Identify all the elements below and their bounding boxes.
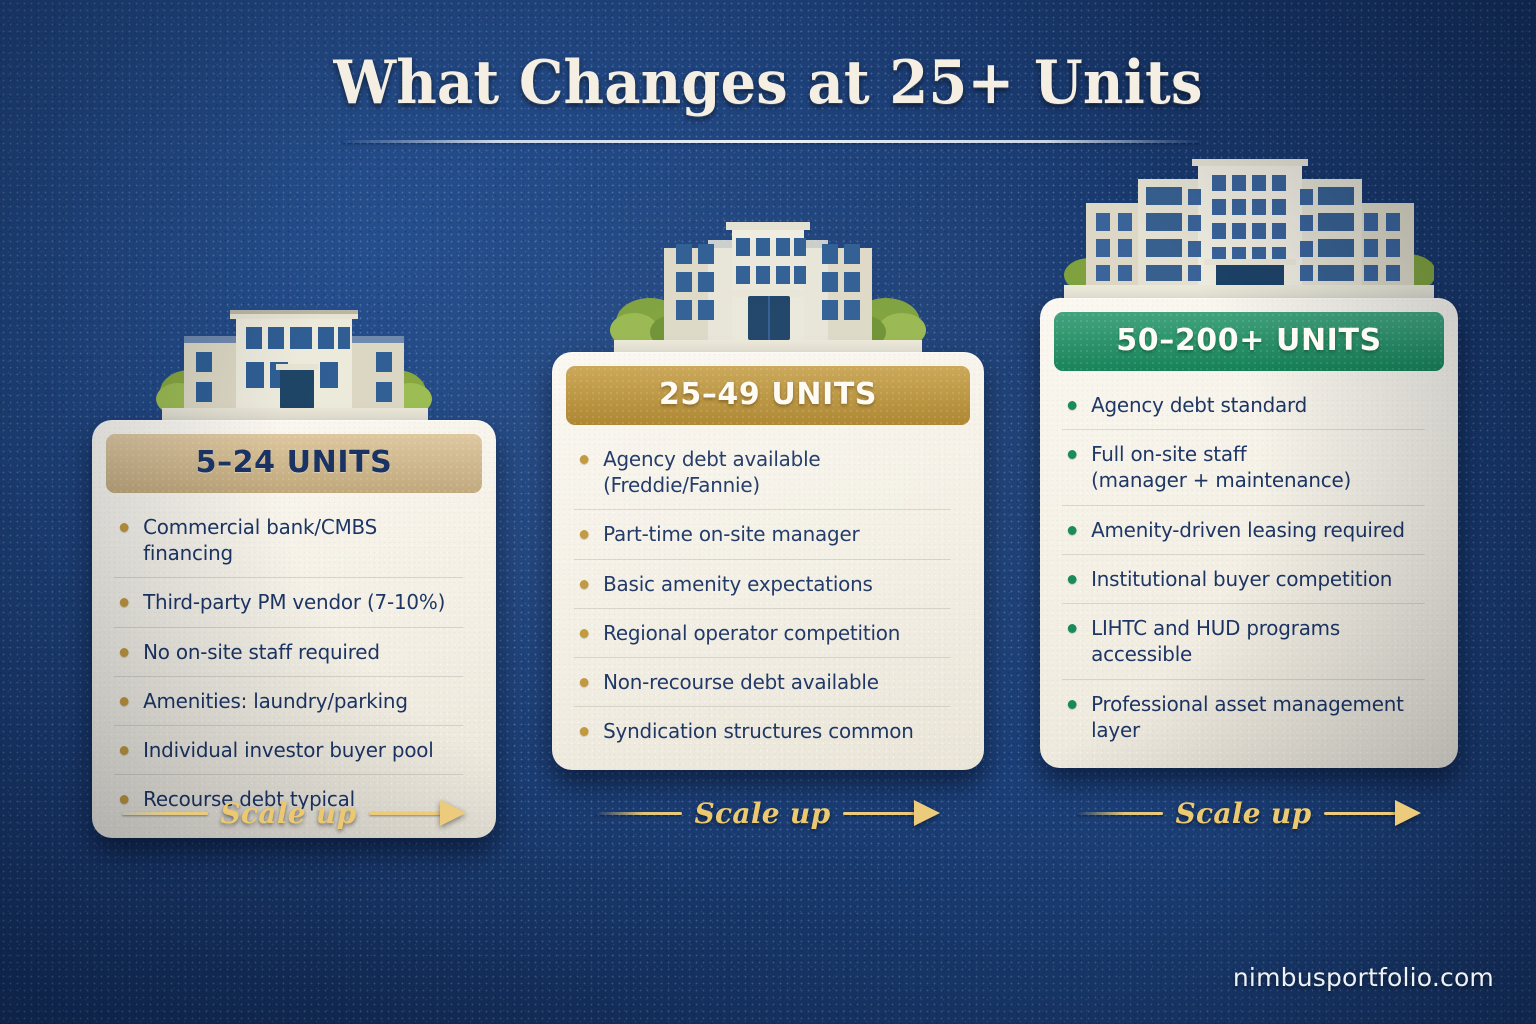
list-item: Regional operator competition [574, 609, 950, 658]
list-item: Agency debt standard [1062, 381, 1425, 430]
tier-card-5-24: 5–24 UNITS Commercial bank/CMBS financin… [92, 420, 496, 838]
large-apartment-complex-icon [1040, 155, 1458, 298]
page-title: What Changes at 25+ Units [54, 48, 1482, 118]
scale-up-label: Scale up [221, 797, 357, 830]
arrow-right-icon [369, 800, 466, 826]
list-item: Professional asset management layer [1062, 680, 1425, 754]
infographic-canvas: What Changes at 25+ Units [0, 0, 1536, 1024]
tier-card-50-200: 50–200+ UNITS Agency debt standard Full … [1040, 298, 1458, 768]
scale-up-indicator-50-200: Scale up [1040, 790, 1458, 836]
footer-website: nimbusportfolio.com [1233, 963, 1494, 992]
arrow-shaft [843, 812, 915, 815]
tier-header-25-49: 25–49 UNITS [566, 366, 970, 425]
list-item: Part-time on-site manager [574, 510, 950, 559]
scale-up-line-icon [1077, 812, 1163, 815]
tier-column-50-200: 50–200+ UNITS Agency debt standard Full … [1040, 155, 1458, 768]
list-item: Agency debt available (Freddie/Fannie) [574, 435, 950, 510]
title-divider [342, 140, 1202, 143]
list-item: Basic amenity expectations [574, 560, 950, 609]
tier-feature-list-5-24: Commercial bank/CMBS financing Third-par… [92, 499, 496, 824]
list-item: LIHTC and HUD programs accessible [1062, 604, 1425, 679]
tier-header-5-24: 5–24 UNITS [106, 434, 482, 493]
arrow-head [440, 800, 466, 826]
scale-up-indicator-5-24: Scale up [92, 790, 496, 836]
list-item: Non-recourse debt available [574, 658, 950, 707]
list-item: Third-party PM vendor (7-10%) [114, 578, 463, 627]
list-item: Commercial bank/CMBS financing [114, 503, 463, 578]
list-item: Syndication structures common [574, 707, 950, 755]
tier-header-50-200: 50–200+ UNITS [1054, 312, 1444, 371]
tier-card-25-49: 25–49 UNITS Agency debt available (Fredd… [552, 352, 984, 770]
mid-rise-apartment-building-icon [552, 222, 984, 352]
tier-column-25-49: 25–49 UNITS Agency debt available (Fredd… [552, 222, 984, 770]
small-apartment-building-icon [92, 300, 496, 420]
scale-up-line-icon [122, 812, 208, 815]
tier-feature-list-25-49: Agency debt available (Freddie/Fannie) P… [552, 431, 984, 756]
arrow-right-icon [1324, 800, 1421, 826]
list-item: Amenity-driven leasing required [1062, 506, 1425, 555]
list-item: Individual investor buyer pool [114, 726, 463, 775]
list-item: Amenities: laundry/parking [114, 677, 463, 726]
scale-up-line-icon [596, 812, 682, 815]
list-item: Full on-site staff (manager + maintenanc… [1062, 430, 1425, 505]
tier-feature-list-50-200: Agency debt standard Full on-site staff … [1040, 377, 1458, 754]
list-item: No on-site staff required [114, 628, 463, 677]
tier-column-5-24: 5–24 UNITS Commercial bank/CMBS financin… [92, 300, 496, 838]
arrow-shaft [369, 812, 441, 815]
arrow-shaft [1324, 812, 1396, 815]
arrow-right-icon [843, 800, 940, 826]
scale-up-indicator-25-49: Scale up [552, 790, 984, 836]
scale-up-label: Scale up [1176, 797, 1312, 830]
scale-up-label: Scale up [695, 797, 831, 830]
arrow-head [1395, 800, 1421, 826]
list-item: Institutional buyer competition [1062, 555, 1425, 604]
arrow-head [914, 800, 940, 826]
